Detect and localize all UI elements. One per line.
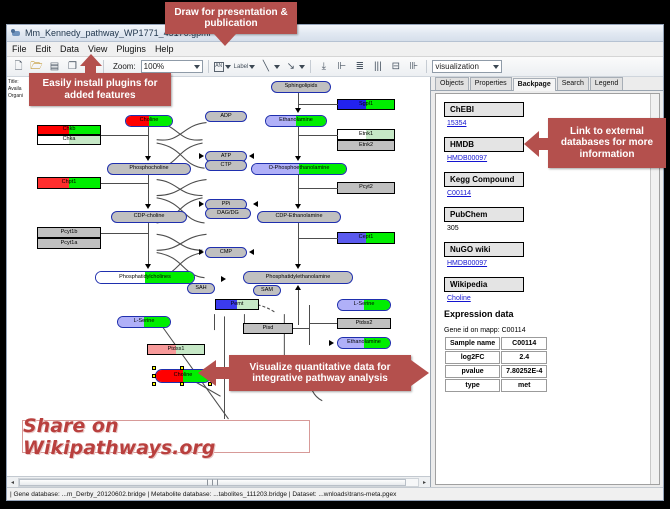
callout-text: Draw for presentation & publication <box>171 7 291 30</box>
callout-external-arrow-left <box>524 131 539 157</box>
arrowhead-ppi <box>199 201 204 207</box>
line-icon[interactable]: ╲ <box>258 59 273 74</box>
save-icon[interactable]: ▤ <box>47 59 62 74</box>
callout-text: Easily install plugins for added feature… <box>35 78 165 101</box>
chevron-down-icon <box>194 65 200 69</box>
arrowhead-atp-right <box>249 153 254 159</box>
backpage-heading-wikipedia: Wikipedia <box>444 277 524 292</box>
gene-node-ptdss2[interactable]: Ptdss2 <box>337 318 391 329</box>
gene-node-pemt[interactable]: Pemt <box>215 299 259 310</box>
screenshot-root: Mm_Kennedy_pathway_WP1771_45176.gpml Fil… <box>0 0 670 509</box>
metabolite-label: ADP <box>220 114 231 120</box>
arrowhead-cmp-right <box>249 249 254 255</box>
metabolite-node-sam[interactable]: SAM <box>253 285 281 296</box>
metabolite-node-l-serine-left[interactable]: L-Serine <box>117 316 171 328</box>
metabolite-label: Phosphatidylethanolamine <box>266 275 331 281</box>
arrowhead-o-phosphoethanolamine <box>295 156 301 161</box>
table-cell-key: type <box>445 379 500 392</box>
arrow-choline-to-phosphocholine <box>148 127 149 158</box>
gene-label: Pcyt1a <box>61 241 78 247</box>
metabolite-node-dagdg[interactable]: DAG/DG <box>205 208 251 219</box>
metabolite-node-sphingolipids[interactable]: Sphingolipids <box>271 81 331 93</box>
share-banner-text: Share on Wikipathways.org <box>23 415 309 459</box>
gene-node-chkb[interactable]: Chkb <box>37 125 101 135</box>
callout-visualize-data: Visualize quantitative data for integrat… <box>229 355 411 391</box>
connector-chk-to-backbone <box>101 135 149 136</box>
metabolite-node-l-serine-right[interactable]: L-Serine <box>337 299 391 311</box>
common-width-icon[interactable]: ⊟ <box>388 59 403 74</box>
metabolite-label: Sphingolipids <box>285 84 318 90</box>
metabolite-label: ATP <box>221 154 231 160</box>
zoom-value: 100% <box>144 62 164 71</box>
tab-properties[interactable]: Properties <box>470 77 512 90</box>
share-banner: Share on Wikipathways.org <box>22 420 310 453</box>
tab-search[interactable]: Search <box>557 77 589 90</box>
metabolite-node-phosphocholine[interactable]: Phosphocholine <box>107 163 191 175</box>
arrowhead-phosphocholine <box>145 156 151 161</box>
gene-label: Ptdss2 <box>356 321 373 327</box>
metabolite-node-cdp-ethanolamine[interactable]: CDP-Ethanolamine <box>257 211 341 223</box>
gene-label: Chkb <box>63 127 76 133</box>
arrowhead-ppi-right <box>253 201 258 207</box>
bring-to-front-icon[interactable]: ⊪ <box>406 59 421 74</box>
visualization-value: visualization <box>435 62 479 71</box>
menu-item-edit[interactable]: Edit <box>36 44 57 54</box>
statusbar: | Gene database: ...m_Derby_20120602.bri… <box>7 487 663 500</box>
line-tool[interactable]: ╲ <box>258 59 280 74</box>
arrow-cdpe-to-pe <box>298 223 299 266</box>
metabolite-label: SAM <box>261 288 273 294</box>
statusbar-text: | Gene database: ...m_Derby_20120602.bri… <box>10 491 396 498</box>
arrowhead-cmp <box>199 249 204 255</box>
metabolite-label: O-Phosphoethanolamine <box>269 166 330 172</box>
table-row: pvalue 7.80252E-4 <box>445 365 547 378</box>
table-row: log2FC 2.4 <box>445 351 547 364</box>
metabolite-node-ethanolamine-bottom[interactable]: Ethanolamine <box>337 337 391 349</box>
expression-data-table: Sample name C00114 log2FC 2.4 pvalue 7.8… <box>444 336 548 393</box>
backpage-heading-hmdb: HMDB <box>444 137 524 152</box>
gene-label: Pcyt1b <box>61 230 78 236</box>
backpage-heading-pubchem: PubChem <box>444 207 524 222</box>
menu-item-plugins[interactable]: Plugins <box>116 44 151 54</box>
metabolite-label: CMP <box>220 250 232 256</box>
table-cell-key: pvalue <box>445 365 500 378</box>
metabolite-node-phosphatidylethanolamine[interactable]: Phosphatidylethanolamine <box>243 271 353 284</box>
distribute-vertical-icon[interactable]: ≣ <box>352 59 367 74</box>
gene-node-pcyt1b[interactable]: Pcyt1b <box>37 227 101 238</box>
metabolite-label: Choline <box>174 373 193 379</box>
table-row: type met <box>445 379 547 392</box>
shape-icon[interactable]: AN <box>214 62 224 72</box>
gene-node-cept1[interactable]: Cept1 <box>337 232 395 244</box>
pathvisio-app-icon <box>11 28 21 38</box>
gene-node-pisd[interactable]: Pisd <box>243 323 293 334</box>
table-cell-value: C00114 <box>501 337 547 350</box>
metabolite-node-ctp-visible[interactable]: CTP <box>205 160 247 171</box>
backpage-heading-nugo-wiki: NuGO wiki <box>444 242 524 257</box>
metabolite-label: DAG/DG <box>217 211 239 217</box>
meta-availability-label: Availa <box>8 86 23 93</box>
metabolite-node-cmp[interactable]: CMP <box>205 247 247 258</box>
gene-label: Etnk2 <box>359 143 373 149</box>
metabolite-label: PPi <box>222 202 231 208</box>
gene-label: Pcyt2 <box>359 185 373 191</box>
connector-pisd-to-backbone <box>293 328 309 329</box>
menu-item-file[interactable]: File <box>12 44 32 54</box>
backpage-link-wikipedia[interactable]: Choline <box>447 295 659 302</box>
gene-label: Chka <box>63 137 76 143</box>
meta-organism-label: Organi <box>8 93 23 100</box>
table-row: Sample name C00114 <box>445 337 547 350</box>
callout-install-plugins: Easily install plugins for added feature… <box>29 73 171 106</box>
metabolite-label: Phosphatidylcholines <box>119 275 171 281</box>
backpage-value-pubchem: 305 <box>447 225 659 232</box>
metabolite-node-ethanolamine-top[interactable]: Ethanolamine <box>265 115 327 127</box>
metabolite-node-phosphatidylcholines[interactable]: Phosphatidylcholines <box>95 271 195 284</box>
align-top-icon[interactable]: ⤓ <box>316 59 331 74</box>
connector-tool[interactable]: ↘ <box>283 59 305 74</box>
connector-ptdss2-to-backbone <box>309 323 337 324</box>
arrow-cdpcholine-to-pc <box>148 223 149 266</box>
gene-label: Ptdss1 <box>168 347 185 353</box>
toolbar-separator-4 <box>426 60 427 73</box>
visualization-chevron-down-icon <box>493 65 499 69</box>
table-cell-value: 7.80252E-4 <box>501 365 547 378</box>
selection-handle-w[interactable] <box>152 374 156 378</box>
metabolite-node-o-phosphoethanolamine[interactable]: O-Phosphoethanolamine <box>251 163 347 175</box>
side-panel-tabs: Objects Properties Backpage Search Legen… <box>431 77 663 91</box>
arrowhead-cdp-ethanolamine <box>295 204 301 209</box>
callout-draw-arrow-stem <box>219 30 230 38</box>
gene-id-on-mapp: Gene id on mapp: C00114 <box>444 327 659 334</box>
tab-legend[interactable]: Legend <box>590 77 623 90</box>
metabolite-node-choline-top[interactable]: Choline <box>125 115 173 127</box>
arrowhead-ethanolamine-top <box>295 108 301 113</box>
gene-node-sgpl1[interactable]: Sgpl1 <box>337 99 395 110</box>
metabolite-label: CDP-choline <box>134 214 165 220</box>
arrow-ethanolamine-to-ope <box>298 127 299 158</box>
tab-backpage[interactable]: Backpage <box>513 78 556 91</box>
table-cell-key: log2FC <box>445 351 500 364</box>
gene-label: Chpt1 <box>62 180 77 186</box>
callout-visualize-arrow-left-stem <box>214 367 232 379</box>
arrowhead-cdpcholine <box>145 204 151 209</box>
menu-item-view[interactable]: View <box>88 44 112 54</box>
arrowhead-phosphatidylethanolamine <box>295 264 301 269</box>
canvas-horizontal-scrollbar[interactable]: ◂ ❙❙❙ ▸ <box>7 476 430 487</box>
callout-external-arrow-stem <box>538 138 552 150</box>
callout-external-databases: Link to external databases for more info… <box>548 118 666 168</box>
distribute-horizontal-icon[interactable]: ||| <box>370 59 385 74</box>
metabolite-label: Ethanolamine <box>347 340 381 346</box>
visualization-combo[interactable]: visualization <box>432 60 502 73</box>
metabolite-label: Ethanolamine <box>279 118 313 124</box>
gene-label: Etnk1 <box>359 132 373 138</box>
expression-data-title: Expression data <box>444 309 659 319</box>
label-tool[interactable]: Label <box>234 64 256 70</box>
arrow-phosphocholine-to-cdpcholine <box>148 175 149 206</box>
scroll-thumb[interactable]: ❙❙❙ <box>19 479 406 486</box>
table-cell-value: met <box>501 379 547 392</box>
menu-item-data[interactable]: Data <box>60 44 84 54</box>
backpage-link-nugo-wiki[interactable]: HMDB00097 <box>447 260 659 267</box>
tab-objects[interactable]: Objects <box>435 77 469 90</box>
backpage-link-kegg-compound[interactable]: C00114 <box>447 190 659 197</box>
connector-chevron-down-icon[interactable] <box>299 65 305 69</box>
metabolite-label: SAH <box>195 286 206 292</box>
gene-label: Sgpl1 <box>359 102 373 108</box>
backpage-heading-chebi: ChEBI <box>444 102 524 117</box>
gene-node-pcyt2[interactable]: Pcyt2 <box>337 182 395 194</box>
menubar: File Edit Data View Plugins Help <box>7 42 663 57</box>
pathway-meta-labels: Title: Availa Organi <box>8 79 23 100</box>
arrowhead-ethanolamine-bottom <box>329 340 334 346</box>
label-tool-label: Label <box>234 64 249 70</box>
table-cell-key: Sample name <box>445 337 500 350</box>
gene-label: Cept1 <box>359 235 374 241</box>
align-left-icon[interactable]: ⊩ <box>334 59 349 74</box>
meta-title-label: Title: <box>8 79 23 86</box>
backpage-heading-kegg-compound: Kegg Compound <box>444 172 524 187</box>
label-chevron-down-icon[interactable] <box>249 65 255 69</box>
gene-node-pcyt1a[interactable]: Pcyt1a <box>37 238 101 249</box>
selection-handle-nw[interactable] <box>152 366 156 370</box>
arrowhead-pe-to-pc <box>221 276 226 282</box>
selection-handle-n[interactable] <box>180 366 184 370</box>
connector-etnk-to-backbone <box>298 135 338 136</box>
metabolite-node-cdp-choline[interactable]: CDP-choline <box>111 211 187 223</box>
gene-node-etnk2[interactable]: Etnk2 <box>337 140 395 151</box>
selection-handle-sw[interactable] <box>152 382 156 386</box>
arrowhead-atp <box>199 153 204 159</box>
callout-plugins-arrow-stem <box>85 64 96 76</box>
callout-draw-for-presentation: Draw for presentation & publication <box>165 2 297 34</box>
connector-chpt1-to-backbone <box>101 183 149 184</box>
connector-sgpl1-to-backbone <box>298 104 338 105</box>
gene-label: Pemt <box>231 302 244 308</box>
metabolite-label: CTP <box>221 163 232 169</box>
new-file-icon[interactable]: 🗋 <box>11 59 26 74</box>
connector-pcyt1-to-backbone <box>101 233 149 234</box>
metabolite-label: CDP-Ethanolamine <box>275 214 322 220</box>
arrow-pisd-up-to-pe <box>298 289 299 325</box>
callout-text: Visualize quantitative data for integrat… <box>235 362 405 385</box>
arrowhead-phosphatidylcholines <box>145 264 151 269</box>
toolbar-separator-2 <box>208 60 209 73</box>
metabolite-node-sah[interactable]: SAH <box>187 283 215 294</box>
table-cell-value: 2.4 <box>501 351 547 364</box>
copy-icon[interactable]: ❐ <box>65 59 80 74</box>
open-folder-icon[interactable]: 🗁 <box>29 59 44 74</box>
connector-icon[interactable]: ↘ <box>283 59 298 74</box>
shape-chevron-down-icon[interactable] <box>225 65 231 69</box>
gene-label: Pisd <box>263 326 274 332</box>
line-chevron-down-icon[interactable] <box>274 65 280 69</box>
gene-node-etnk1[interactable]: Etnk1 <box>337 129 395 140</box>
shape-tool[interactable]: AN <box>214 62 231 72</box>
scroll-track[interactable]: ❙❙❙ <box>18 478 419 487</box>
selection-handle-s[interactable] <box>180 382 184 386</box>
callout-visualize-arrow-right-stem <box>405 367 415 379</box>
metabolite-node-adp[interactable]: ADP <box>205 111 247 122</box>
menu-item-help[interactable]: Help <box>155 44 179 54</box>
gene-node-chpt1[interactable]: Chpt1 <box>37 177 101 189</box>
gene-node-ptdss1[interactable]: Ptdss1 <box>147 344 205 355</box>
callout-text: Link to external databases for more info… <box>554 126 660 161</box>
metabolite-label: Phosphocholine <box>129 166 168 172</box>
metabolite-label: L-Serine <box>354 302 375 308</box>
metabolite-label: L-Serine <box>134 319 155 325</box>
toolbar-separator-1 <box>103 60 104 73</box>
gene-node-chka[interactable]: Chka <box>37 135 101 145</box>
connector-cept1-to-backbone <box>298 238 338 239</box>
window-titlebar: Mm_Kennedy_pathway_WP1771_45176.gpml <box>7 25 663 42</box>
arrow-ope-to-cdpe <box>298 175 299 206</box>
connector-pcyt2-to-backbone <box>298 188 338 189</box>
metabolite-label: Choline <box>140 118 159 124</box>
connector-ptdss2-branch <box>309 305 310 345</box>
zoom-label: Zoom: <box>113 62 136 71</box>
scroll-right-arrow-icon[interactable]: ▸ <box>419 477 430 487</box>
scroll-left-arrow-icon[interactable]: ◂ <box>7 477 18 487</box>
arrowhead-pe-from-below <box>295 285 301 290</box>
toolbar-separator-3 <box>310 60 311 73</box>
zoom-combo[interactable]: 100% <box>141 60 203 73</box>
